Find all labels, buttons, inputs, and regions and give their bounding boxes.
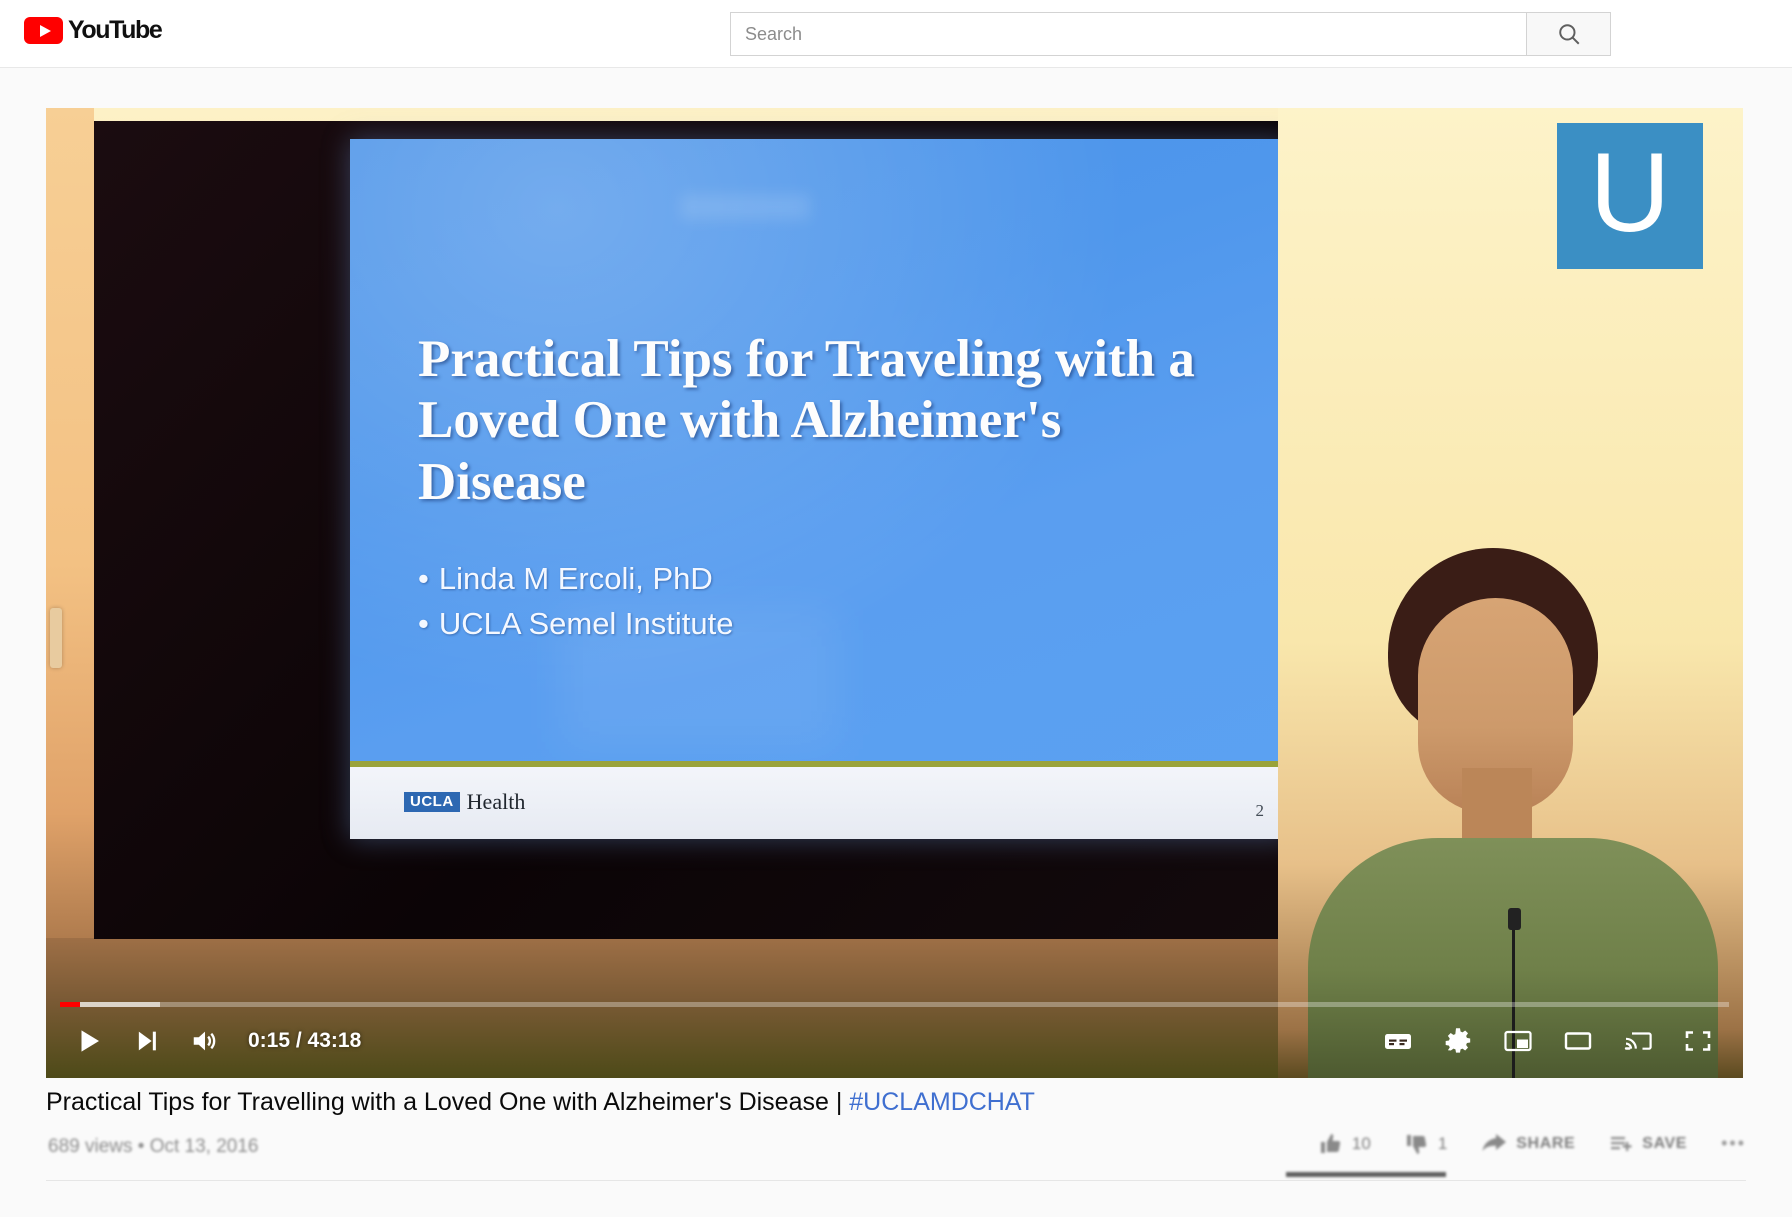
- channel-watermark-letter: U: [1590, 137, 1671, 249]
- gear-icon: [1443, 1026, 1473, 1056]
- share-label: SHARE: [1516, 1135, 1575, 1153]
- time-display: 0:15 / 43:18: [236, 1029, 371, 1053]
- fullscreen-icon: [1683, 1028, 1713, 1054]
- volume-icon: [190, 1026, 220, 1056]
- next-button[interactable]: [120, 1018, 174, 1064]
- slide-glare-top: [680, 194, 810, 220]
- save-label: SAVE: [1642, 1135, 1687, 1153]
- share-arrow-icon: [1481, 1132, 1507, 1156]
- projection-screen-housing: Practical Tips for Traveling with a Love…: [94, 121, 1326, 939]
- more-actions-button[interactable]: •••: [1721, 1133, 1746, 1154]
- miniplayer-icon: [1503, 1028, 1533, 1054]
- video-action-buttons: 10 1 SHARE: [1319, 1132, 1746, 1156]
- share-button[interactable]: SHARE: [1481, 1132, 1575, 1156]
- door-handle: [50, 608, 62, 668]
- player-controls-right: [1371, 1018, 1725, 1064]
- next-track-icon: [133, 1027, 161, 1055]
- player-controls: 0:15 / 43:18: [46, 992, 1743, 1078]
- cast-button[interactable]: [1611, 1018, 1665, 1064]
- presentation-slide: Practical Tips for Traveling with a Love…: [350, 139, 1290, 839]
- youtube-play-logo-icon: [24, 17, 63, 44]
- page-body: Practical Tips for Traveling with a Love…: [0, 68, 1792, 1217]
- slide-bullet: UCLA Semel Institute: [418, 602, 1218, 647]
- search-button[interactable]: [1526, 12, 1611, 56]
- ucla-health-logo: UCLA Health: [404, 789, 525, 815]
- search-input[interactable]: [730, 12, 1526, 56]
- dislike-button[interactable]: 1: [1405, 1132, 1447, 1156]
- video-player[interactable]: Practical Tips for Traveling with a Love…: [46, 108, 1743, 1078]
- thumbs-down-icon: [1405, 1132, 1429, 1156]
- youtube-logo[interactable]: YouTube: [24, 17, 161, 44]
- youtube-logo-text: YouTube: [68, 17, 161, 44]
- slide-bullet-list: Linda M Ercoli, PhD UCLA Semel Institute: [418, 557, 1218, 646]
- dislike-count: 1: [1438, 1134, 1447, 1154]
- video-title-text: Practical Tips for Travelling with a Lov…: [46, 1088, 849, 1116]
- save-to-playlist-icon: [1609, 1132, 1633, 1156]
- progress-bar[interactable]: [60, 1002, 1729, 1007]
- view-count-and-date: 689 views • Oct 13, 2016: [48, 1136, 259, 1158]
- progress-played: [60, 1002, 80, 1007]
- ucla-logo-word: Health: [467, 789, 526, 815]
- thumbs-up-icon: [1319, 1132, 1343, 1156]
- video-stats-row: 689 views • Oct 13, 2016 10 1: [46, 1132, 1746, 1176]
- video-title-hashtag-link[interactable]: #UCLAMDCHAT: [849, 1088, 1035, 1116]
- slide-number: 2: [1256, 801, 1265, 821]
- player-controls-left: 0:15 / 43:18: [62, 1018, 371, 1064]
- play-button[interactable]: [62, 1018, 116, 1064]
- channel-watermark[interactable]: U: [1557, 123, 1703, 269]
- cast-icon: [1623, 1028, 1653, 1054]
- search-icon: [1556, 21, 1582, 47]
- lapel-microphone: [1508, 908, 1521, 930]
- search-form: [730, 12, 1611, 56]
- theater-button[interactable]: [1551, 1018, 1605, 1064]
- slide-title: Practical Tips for Traveling with a Love…: [418, 329, 1198, 513]
- section-divider: [46, 1180, 1746, 1181]
- like-button[interactable]: 10: [1319, 1132, 1371, 1156]
- room-wall-left: [46, 108, 94, 938]
- captions-button[interactable]: [1371, 1018, 1425, 1064]
- theater-mode-icon: [1563, 1028, 1593, 1054]
- action-row-underline: [1286, 1172, 1446, 1177]
- play-icon: [74, 1026, 104, 1056]
- slide-footer: UCLA Health 2: [350, 767, 1290, 839]
- masthead: YouTube: [0, 0, 1792, 68]
- miniplayer-button[interactable]: [1491, 1018, 1545, 1064]
- ucla-logo-mark: UCLA: [404, 792, 460, 812]
- settings-button[interactable]: [1431, 1018, 1485, 1064]
- fullscreen-button[interactable]: [1671, 1018, 1725, 1064]
- page-title: Practical Tips for Travelling with a Lov…: [46, 1086, 1746, 1119]
- video-metadata: Practical Tips for Travelling with a Lov…: [46, 1086, 1746, 1176]
- slide-bullet: Linda M Ercoli, PhD: [418, 557, 1218, 602]
- closed-captions-icon: [1383, 1029, 1413, 1053]
- save-button[interactable]: SAVE: [1609, 1132, 1687, 1156]
- like-count: 10: [1352, 1134, 1371, 1154]
- mute-button[interactable]: [178, 1018, 232, 1064]
